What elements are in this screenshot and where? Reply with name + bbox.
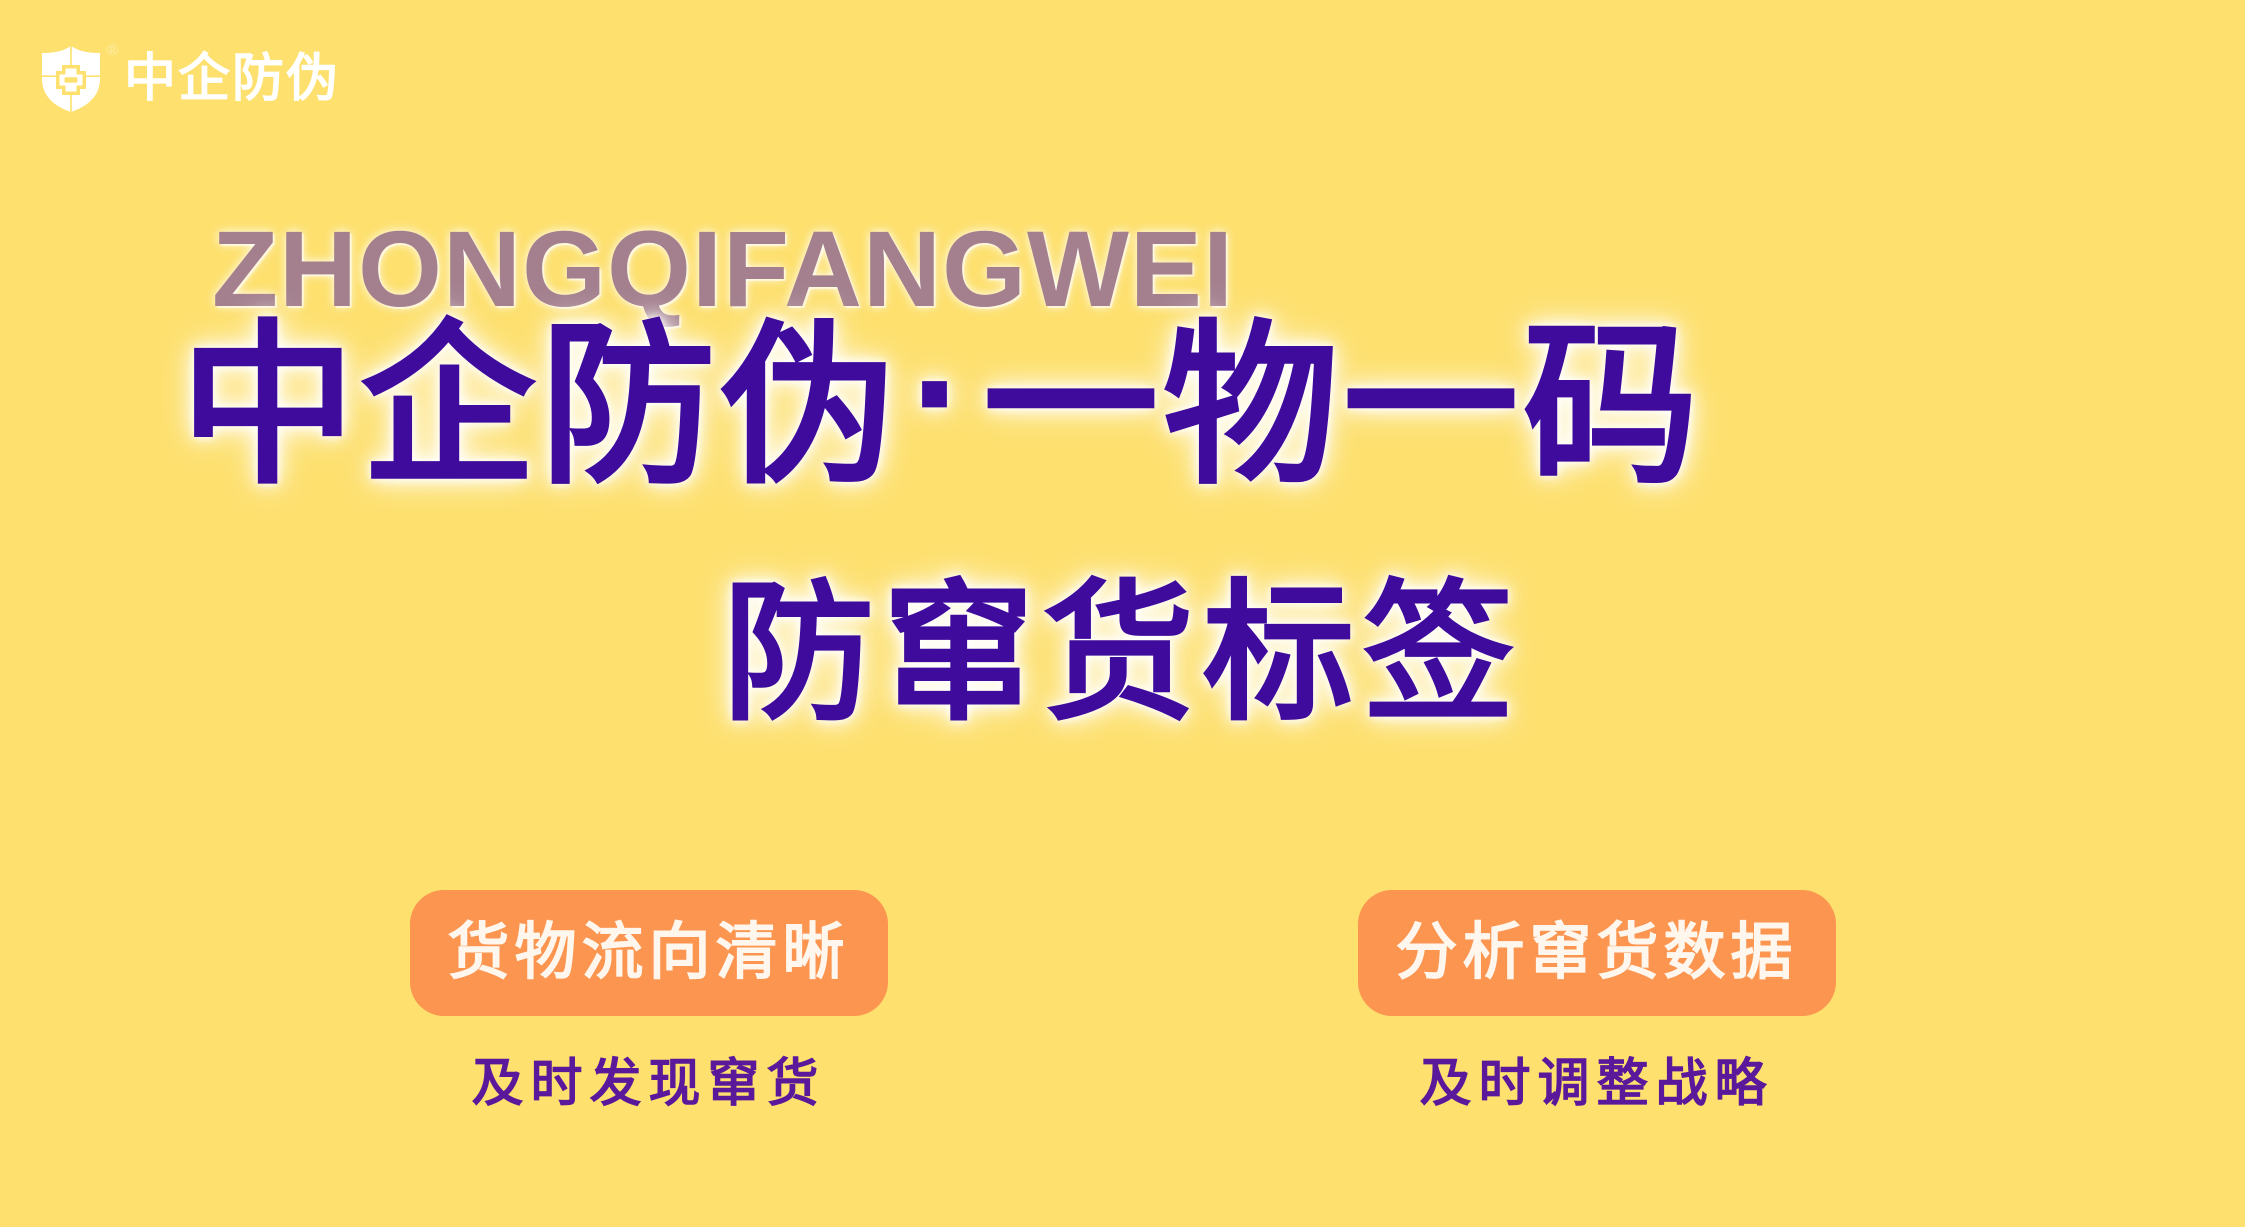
poster-canvas: ® 中企防伪 ZHONGQIFANGWEI 中企防伪·一物一码 防窜货标签 货物… (0, 0, 2245, 1227)
feature-chip-2: 分析窜货数据 (1358, 890, 1836, 1016)
feature-list: 货物流向清晰 及时发现窜货 分析窜货数据 及时调整战略 (0, 890, 2245, 1110)
page-title: 中企防伪·一物一码 (180, 312, 1703, 502)
headline-part1: 中企防伪 (180, 309, 900, 505)
feature-caption-1: 及时发现窜货 (471, 1058, 825, 1110)
feature-chip-label-1: 货物流向清晰 (447, 922, 849, 984)
headline-part2: 一物一码 (983, 309, 1703, 505)
feature-item-1: 货物流向清晰 及时发现窜货 (410, 890, 888, 1110)
pinyin-watermark: ZHONGQIFANGWEI (212, 215, 1234, 323)
feature-chip-label-2: 分析窜货数据 (1395, 922, 1797, 984)
feature-chip-1: 货物流向清晰 (410, 890, 888, 1016)
feature-item-2: 分析窜货数据 及时调整战略 (1358, 890, 1836, 1110)
headline-separator: · (900, 298, 983, 488)
hero-section: ZHONGQIFANGWEI 中企防伪·一物一码 防窜货标签 货物流向清晰 及时… (0, 0, 2245, 1227)
page-subtitle: 防窜货标签 (0, 575, 2245, 735)
feature-caption-2: 及时调整战略 (1419, 1058, 1773, 1110)
